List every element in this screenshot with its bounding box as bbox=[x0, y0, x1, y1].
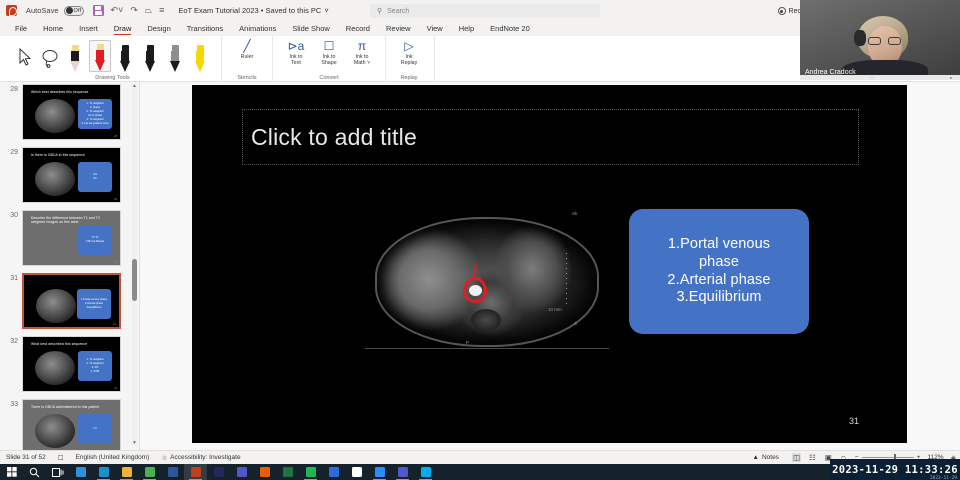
teams-icon-glyph bbox=[398, 467, 408, 477]
pen-red[interactable] bbox=[89, 40, 111, 72]
slide-thumbnail-pane[interactable]: 28Which best describes this sequence1. T… bbox=[0, 82, 140, 450]
file-explorer-icon[interactable] bbox=[115, 464, 138, 480]
ribbon-group-stencils: ╱ Ruler Stencils bbox=[222, 36, 273, 82]
edge-icon[interactable] bbox=[92, 464, 115, 480]
datetime-text: 2023-11-29 11:33:26 bbox=[832, 464, 958, 476]
slide-indicator[interactable]: Slide 31 of 52 bbox=[0, 454, 52, 461]
powerpoint-icon-glyph bbox=[191, 467, 201, 477]
teams-classic-icon-glyph bbox=[237, 467, 247, 477]
snip-icon[interactable] bbox=[345, 464, 368, 480]
firefox-icon[interactable] bbox=[253, 464, 276, 480]
quick-access-toolbar: ↶​˅ ↷ ⏢ ≡ bbox=[93, 5, 165, 16]
slide-number: 31 bbox=[849, 416, 859, 426]
thumbnail-title: There is GBCA administered to this patie… bbox=[31, 405, 114, 409]
yammer-icon[interactable] bbox=[207, 464, 230, 480]
zoom-icon[interactable] bbox=[368, 464, 391, 480]
ink-to-math-button[interactable]: π Ink to Math ˅ bbox=[347, 40, 377, 72]
ink-replay-label: Ink Replay bbox=[401, 54, 418, 66]
tab-transitions[interactable]: Transitions bbox=[179, 21, 231, 36]
search-placeholder: Search bbox=[387, 8, 409, 15]
autosave-state: Off bbox=[74, 8, 82, 14]
thumbnail-row[interactable]: 29Is there is GBCA in this sequenceYes N… bbox=[0, 147, 140, 203]
ink-to-shape-button[interactable]: ☐ Ink to Shape bbox=[314, 40, 344, 72]
thumbnail-title: Is there is GBCA in this sequence bbox=[31, 153, 114, 157]
mail-icon-glyph bbox=[76, 467, 86, 477]
present-icon[interactable]: ⏢ bbox=[145, 6, 152, 15]
option-line-3: 2.Arterial phase bbox=[667, 272, 770, 290]
search-icon: ⚲ bbox=[377, 7, 382, 15]
ink-annotation-circle[interactable] bbox=[463, 277, 487, 303]
word-icon[interactable] bbox=[161, 464, 184, 480]
scroll-down-arrow[interactable]: ▼ bbox=[132, 441, 137, 446]
thumbnail-answer-box: T1 T2 CSF Fat Muscle bbox=[78, 225, 112, 255]
thumbnail-answer-box: Yes No bbox=[78, 162, 112, 192]
chrome-icon[interactable] bbox=[138, 464, 161, 480]
thumbnail-row[interactable]: 32What best described this sequence1. T1… bbox=[0, 336, 140, 392]
pen-black-2[interactable] bbox=[139, 40, 161, 72]
slide-thumbnail-29[interactable]: Is there is GBCA in this sequenceYes No2… bbox=[22, 147, 121, 203]
ink-to-math-icon: π bbox=[358, 40, 366, 53]
datetime-overlay: 2023-11-29 11:33:26 2023-11-29 bbox=[830, 459, 960, 480]
pencil-gray[interactable] bbox=[164, 40, 186, 72]
eraser-tool-glyph bbox=[70, 45, 80, 72]
thumbnail-row[interactable]: 311.Portal venous phase 2.Arterial phase… bbox=[0, 273, 140, 329]
thumbnail-number: 33 bbox=[0, 399, 22, 450]
spotify-icon[interactable] bbox=[299, 464, 322, 480]
tab-insert[interactable]: Insert bbox=[71, 21, 106, 36]
chrome-icon-glyph bbox=[145, 467, 155, 477]
thumbnail-title: What best described this sequence bbox=[31, 342, 114, 346]
tab-endnote-20[interactable]: EndNote 20 bbox=[482, 21, 538, 36]
ruler-label: Ruler bbox=[241, 54, 254, 60]
ribbon-group-replay: ▷ Ink Replay Replay bbox=[386, 36, 435, 82]
scan-label-topright: Sk bbox=[572, 211, 577, 216]
highlighter-yellow-glyph bbox=[195, 45, 205, 72]
scan-scale-ruler bbox=[566, 253, 567, 308]
webcam-headset-icon bbox=[854, 30, 866, 46]
webcam-bottom-strip: ⋯ ● bbox=[800, 75, 960, 80]
webcam-video-overlay[interactable]: Andrea Cradock ⋯ ● bbox=[800, 0, 960, 80]
group-label-stencils: Stencils bbox=[237, 75, 256, 82]
ribbon-group-drawing-tools: Drawing Tools bbox=[0, 36, 222, 82]
more-commands-icon[interactable]: ≡ bbox=[159, 6, 164, 15]
thumbnail-answer-box: 1. T1 weighted in phase 2. T1 weighted o… bbox=[78, 99, 112, 129]
tab-view[interactable]: View bbox=[419, 21, 451, 36]
thumbnail-row[interactable]: 33There is GBCA administered to this pat… bbox=[0, 399, 140, 450]
status-bar: Slide 31 of 52 ☐ English (United Kingdom… bbox=[0, 450, 960, 464]
work-area: 28Which best describes this sequence1. T… bbox=[0, 82, 960, 450]
slide-thumbnail-30[interactable]: Describe the difference between T1 and T… bbox=[22, 210, 121, 266]
excel-icon[interactable] bbox=[276, 464, 299, 480]
mail-icon[interactable] bbox=[69, 464, 92, 480]
word-icon-glyph bbox=[168, 467, 178, 477]
group-label-convert: Convert bbox=[319, 75, 338, 82]
thumbnail-scan-image bbox=[35, 351, 75, 385]
thumbnail-page-number: 28 bbox=[114, 135, 117, 138]
yammer-icon-glyph bbox=[214, 467, 224, 477]
pencil-gray-glyph bbox=[170, 45, 180, 72]
notes-button[interactable]: ▲ Notes bbox=[747, 454, 785, 461]
thumbnail-page-number: 31 bbox=[113, 323, 116, 326]
slide-thumbnail-33[interactable]: There is GBCA administered to this patie… bbox=[22, 399, 121, 450]
excel-icon-glyph bbox=[283, 467, 293, 477]
tab-design[interactable]: Design bbox=[139, 21, 178, 36]
normal-view-button[interactable]: ◫ bbox=[792, 453, 801, 462]
scan-baseline bbox=[365, 348, 609, 349]
group-label-replay: Replay bbox=[400, 75, 417, 82]
lasso-icon bbox=[41, 48, 59, 68]
scrollbar-thumb[interactable] bbox=[132, 259, 137, 301]
select-tool[interactable] bbox=[14, 40, 36, 72]
thumbnail-title: Describe the difference between T1 and T… bbox=[31, 216, 114, 224]
file-explorer-icon-glyph bbox=[122, 467, 132, 477]
language-indicator[interactable]: English (United Kingdom) bbox=[70, 454, 156, 461]
tab-draw[interactable]: Draw bbox=[106, 21, 140, 36]
slide-thumbnail-32[interactable]: What best described this sequence1. T1 w… bbox=[22, 336, 121, 392]
highlighter-yellow[interactable] bbox=[189, 40, 211, 72]
autosave-knob bbox=[66, 7, 73, 14]
ribbon-group-convert: ⊳a Ink to Text ☐ Ink to Shape π Ink to M… bbox=[273, 36, 386, 82]
option-line-1: 1.Portal venous bbox=[668, 236, 770, 254]
tab-home[interactable]: Home bbox=[35, 21, 71, 36]
medical-scan-image[interactable]: Sk 10 mm C P bbox=[367, 215, 607, 350]
thumbnail-row[interactable]: 28Which best describes this sequence1. T… bbox=[0, 84, 140, 140]
scan-label-bottom: P bbox=[466, 340, 469, 345]
thumbnail-scan-image bbox=[35, 99, 75, 133]
ink-to-text-icon: ⊳a bbox=[288, 40, 305, 53]
webcam-glasses bbox=[868, 37, 901, 45]
tab-file[interactable]: File bbox=[7, 21, 35, 36]
slide-thumbnail-28[interactable]: Which best describes this sequence1. T1 … bbox=[22, 84, 121, 140]
undo-icon[interactable]: ↶​˅ bbox=[111, 6, 124, 15]
slide-thumbnail-31[interactable]: 1.Portal venous phase 2.Arterial phase 3… bbox=[22, 273, 121, 329]
skype-icon-glyph bbox=[421, 467, 431, 477]
skype-icon[interactable] bbox=[414, 464, 437, 480]
tab-slide-show[interactable]: Slide Show bbox=[284, 21, 338, 36]
notes-label: Notes bbox=[762, 454, 779, 461]
notes-icon: ▲ bbox=[753, 454, 759, 461]
start-button[interactable] bbox=[0, 464, 23, 480]
ink-to-text-button[interactable]: ⊳a Ink to Text bbox=[281, 40, 311, 72]
tab-record[interactable]: Record bbox=[338, 21, 378, 36]
tab-help[interactable]: Help bbox=[451, 21, 482, 36]
thumbnail-scan-image bbox=[36, 289, 76, 323]
pointer-icon bbox=[18, 48, 32, 68]
slide-canvas-area: Click to add title Sk 10 mm C P 1.P bbox=[140, 82, 960, 450]
answer-options-box[interactable]: 1.Portal venous phase 2.Arterial phase 3… bbox=[629, 209, 809, 334]
strip-dot-1: ⋯ bbox=[870, 75, 874, 80]
ruler-icon: ╱ bbox=[243, 40, 250, 53]
pen-black-2-glyph bbox=[145, 45, 155, 72]
zoom-icon-glyph bbox=[375, 467, 385, 477]
strip-dot-2: ● bbox=[950, 75, 952, 80]
scan-spine bbox=[471, 309, 501, 331]
zoom-track[interactable] bbox=[862, 457, 914, 458]
datetime-small: 2023-11-29 bbox=[930, 476, 957, 480]
group-label-drawing-tools: Drawing Tools bbox=[95, 75, 129, 82]
tab-animations[interactable]: Animations bbox=[231, 21, 284, 36]
settings-icon[interactable] bbox=[322, 464, 345, 480]
option-line-4: 3.Equilibrium bbox=[676, 289, 761, 307]
teams-icon[interactable] bbox=[391, 464, 414, 480]
powerpoint-window: AutoSave Off ↶​˅ ↷ ⏢ ≡ EoT Exam Tutorial… bbox=[0, 0, 960, 480]
accessibility-checker-icon[interactable]: ☐ bbox=[52, 454, 70, 462]
thumbnail-page-number: 29 bbox=[114, 198, 117, 201]
current-slide[interactable]: Click to add title Sk 10 mm C P 1.P bbox=[192, 85, 907, 443]
thumbnail-number: 30 bbox=[0, 210, 22, 266]
thumbnail-answer-box: 1. T1 weighted 2. T2 weighted 3. PD 4. S… bbox=[78, 351, 112, 381]
thumbnail-row[interactable]: 30Describe the difference between T1 and… bbox=[0, 210, 140, 266]
search-box[interactable]: ⚲ Search bbox=[370, 4, 600, 18]
ink-to-math-label: Ink to Math ˅ bbox=[354, 54, 370, 66]
thumbnail-title: Which best describes this sequence bbox=[31, 90, 114, 94]
thumbnail-answer-box: 1.Portal venous phase 2.Arterial phase 3… bbox=[77, 289, 111, 319]
thumbnail-number: 28 bbox=[0, 84, 22, 140]
option-line-2: phase bbox=[699, 254, 739, 272]
thumbnail-number: 31 bbox=[0, 273, 22, 329]
document-title[interactable]: EoT Exam Tutorial 2023 • Saved to this P… bbox=[178, 6, 321, 15]
glasses-right-lens bbox=[888, 37, 901, 45]
autosave-toggle[interactable]: Off bbox=[64, 6, 84, 16]
task-view-icon[interactable] bbox=[46, 464, 69, 480]
spotify-icon-glyph bbox=[306, 467, 316, 477]
edge-icon-glyph bbox=[99, 467, 109, 477]
thumbnail-page-number: 30 bbox=[114, 261, 117, 264]
ink-to-text-label: Ink to Text bbox=[290, 54, 303, 66]
settings-icon-glyph bbox=[329, 467, 339, 477]
ink-to-shape-label: Ink to Shape bbox=[321, 54, 336, 66]
title-placeholder[interactable]: Click to add title bbox=[242, 109, 859, 165]
accessibility-label: Accessibility: Investigate bbox=[170, 454, 240, 461]
thumbnail-scrollbar[interactable]: ▲ ▼ bbox=[132, 84, 137, 446]
tab-review[interactable]: Review bbox=[378, 21, 419, 36]
thumbnail-scan-image bbox=[35, 414, 75, 448]
title-placeholder-text: Click to add title bbox=[251, 124, 417, 151]
ink-replay-icon: ▷ bbox=[404, 40, 413, 53]
thumbnail-number: 29 bbox=[0, 147, 22, 203]
search-taskbar-icon[interactable] bbox=[23, 464, 46, 480]
record-dot-icon bbox=[778, 7, 786, 15]
thumbnail-number: 32 bbox=[0, 336, 22, 392]
save-icon[interactable] bbox=[93, 5, 104, 16]
ink-replay-button[interactable]: ▷ Ink Replay bbox=[394, 40, 424, 72]
eraser-tool[interactable] bbox=[64, 40, 86, 72]
thumbnail-page-number: 32 bbox=[114, 387, 117, 390]
slide-sorter-button[interactable]: ☷ bbox=[808, 453, 817, 462]
scroll-up-arrow[interactable]: ▲ bbox=[132, 84, 137, 89]
glasses-left-lens bbox=[868, 37, 881, 45]
snip-icon-glyph bbox=[352, 467, 362, 477]
ruler-button[interactable]: ╱ Ruler bbox=[232, 40, 262, 72]
accessibility-status[interactable]: ☃ Accessibility: Investigate bbox=[155, 454, 246, 462]
pen-black-1-glyph bbox=[120, 45, 130, 72]
teams-classic-icon[interactable] bbox=[230, 464, 253, 480]
windows-taskbar bbox=[0, 464, 960, 480]
ink-to-shape-icon: ☐ bbox=[324, 40, 335, 53]
thumbnail-answer-box: T F bbox=[78, 414, 112, 444]
scan-label-scale: 10 mm bbox=[548, 307, 562, 312]
pen-red-glyph bbox=[95, 44, 105, 71]
lasso-select-tool[interactable] bbox=[39, 40, 61, 72]
redo-icon[interactable]: ↷ bbox=[130, 6, 138, 15]
scan-label-right: C bbox=[574, 321, 577, 326]
powerpoint-logo-icon bbox=[6, 5, 17, 16]
thumbnail-scan-image bbox=[35, 162, 75, 196]
autosave-label: AutoSave bbox=[26, 6, 59, 15]
document-title-chevron-icon[interactable]: ˅ bbox=[324, 6, 328, 15]
firefox-icon-glyph bbox=[260, 467, 270, 477]
pen-black-1[interactable] bbox=[114, 40, 136, 72]
accessibility-icon: ☃ bbox=[161, 454, 167, 462]
powerpoint-icon[interactable] bbox=[184, 464, 207, 480]
